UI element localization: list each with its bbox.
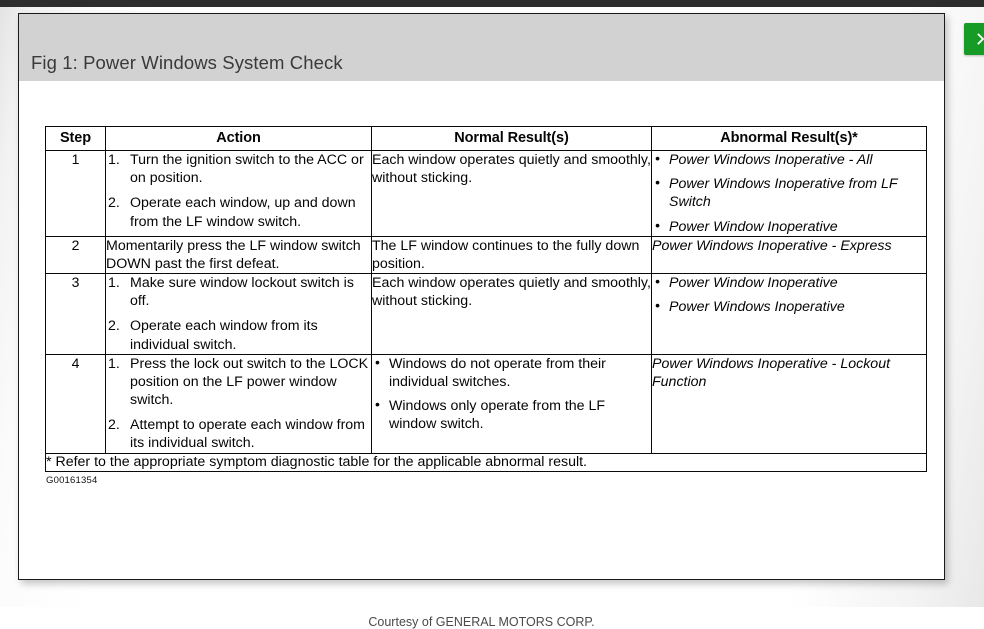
table-row: 2 Momentarily press the LF window switch… xyxy=(46,236,927,273)
action-step-list: Make sure window lockout switch is off. … xyxy=(106,274,371,354)
normal-result-list: Windows do not operate from their indivi… xyxy=(372,355,651,434)
cell-step-number: 1 xyxy=(46,151,106,237)
power-windows-system-check-table: Step Action Normal Result(s) Abnormal Re… xyxy=(45,126,927,472)
cell-abnormal-result: Power Windows Inoperative - Lockout Func… xyxy=(652,354,927,453)
page-title: Fig 1: Power Windows System Check xyxy=(31,52,343,74)
figure-id-label: G00161354 xyxy=(46,475,97,486)
table-footnote-row: * Refer to the appropriate symptom diagn… xyxy=(46,453,927,472)
action-step-item: Operate each window from its individual … xyxy=(106,317,371,353)
abnormal-result-item: Power Windows Inoperative - All xyxy=(652,151,926,169)
cell-step-number: 4 xyxy=(46,354,106,453)
normal-result-text: The LF window continues to the fully dow… xyxy=(372,237,651,273)
abnormal-result-list: Power Window Inoperative Power Windows I… xyxy=(652,274,926,316)
scanned-figure-area: Step Action Normal Result(s) Abnormal Re… xyxy=(19,81,944,579)
next-figure-button[interactable] xyxy=(964,23,984,55)
abnormal-result-text: Power Windows Inoperative - Express xyxy=(652,237,926,255)
cell-abnormal-result: Power Window Inoperative Power Windows I… xyxy=(652,274,927,355)
top-dark-strip xyxy=(0,0,984,7)
cell-abnormal-result: Power Windows Inoperative - Express xyxy=(652,236,927,273)
column-header-action: Action xyxy=(106,127,372,151)
normal-result-text: Each window operates quietly and smoothl… xyxy=(372,151,651,187)
cell-step-number: 3 xyxy=(46,274,106,355)
table-footnote: * Refer to the appropriate symptom diagn… xyxy=(46,453,927,472)
figure-title-band: Fig 1: Power Windows System Check xyxy=(19,14,944,81)
cell-action: Momentarily press the LF window switch D… xyxy=(106,236,372,273)
cell-step-number: 2 xyxy=(46,236,106,273)
action-step-item: Press the lock out switch to the LOCK po… xyxy=(106,355,371,410)
cell-normal-result: Each window operates quietly and smoothl… xyxy=(372,274,652,355)
action-step-item: Attempt to operate each window from its … xyxy=(106,416,371,452)
column-header-step: Step xyxy=(46,127,106,151)
action-step-item: Make sure window lockout switch is off. xyxy=(106,274,371,310)
action-text: Momentarily press the LF window switch D… xyxy=(106,237,371,273)
abnormal-result-item: Power Window Inoperative xyxy=(652,218,926,236)
column-header-normal-result: Normal Result(s) xyxy=(372,127,652,151)
abnormal-result-item: Power Windows Inoperative from LF Switch xyxy=(652,175,926,211)
cell-action: Make sure window lockout switch is off. … xyxy=(106,274,372,355)
courtesy-label: Courtesy of GENERAL MOTORS CORP. xyxy=(19,615,944,629)
normal-result-text: Each window operates quietly and smoothl… xyxy=(372,274,651,310)
cell-normal-result: Each window operates quietly and smoothl… xyxy=(372,151,652,237)
document-card: Fig 1: Power Windows System Check Step A… xyxy=(18,13,945,580)
cell-action: Turn the ignition switch to the ACC or o… xyxy=(106,151,372,237)
table-header-row: Step Action Normal Result(s) Abnormal Re… xyxy=(46,127,927,151)
abnormal-result-item: Power Window Inoperative xyxy=(652,274,926,292)
table-row: 1 Turn the ignition switch to the ACC or… xyxy=(46,151,927,237)
abnormal-result-item: Power Windows Inoperative xyxy=(652,298,926,316)
column-header-abnormal-result: Abnormal Result(s)* xyxy=(652,127,927,151)
action-step-item: Turn the ignition switch to the ACC or o… xyxy=(106,151,371,187)
cell-normal-result: Windows do not operate from their indivi… xyxy=(372,354,652,453)
normal-result-item: Windows do not operate from their indivi… xyxy=(372,355,651,391)
action-step-list: Press the lock out switch to the LOCK po… xyxy=(106,355,371,453)
cell-normal-result: The LF window continues to the fully dow… xyxy=(372,236,652,273)
cell-action: Press the lock out switch to the LOCK po… xyxy=(106,354,372,453)
table-row: 3 Make sure window lockout switch is off… xyxy=(46,274,927,355)
abnormal-result-list: Power Windows Inoperative - All Power Wi… xyxy=(652,151,926,236)
normal-result-item: Windows only operate from the LF window … xyxy=(372,397,651,433)
chevron-right-icon xyxy=(973,31,984,47)
abnormal-result-text: Power Windows Inoperative - Lockout Func… xyxy=(652,355,926,391)
table-row: 4 Press the lock out switch to the LOCK … xyxy=(46,354,927,453)
cell-abnormal-result: Power Windows Inoperative - All Power Wi… xyxy=(652,151,927,237)
action-step-list: Turn the ignition switch to the ACC or o… xyxy=(106,151,371,231)
action-step-item: Operate each window, up and down from th… xyxy=(106,194,371,230)
